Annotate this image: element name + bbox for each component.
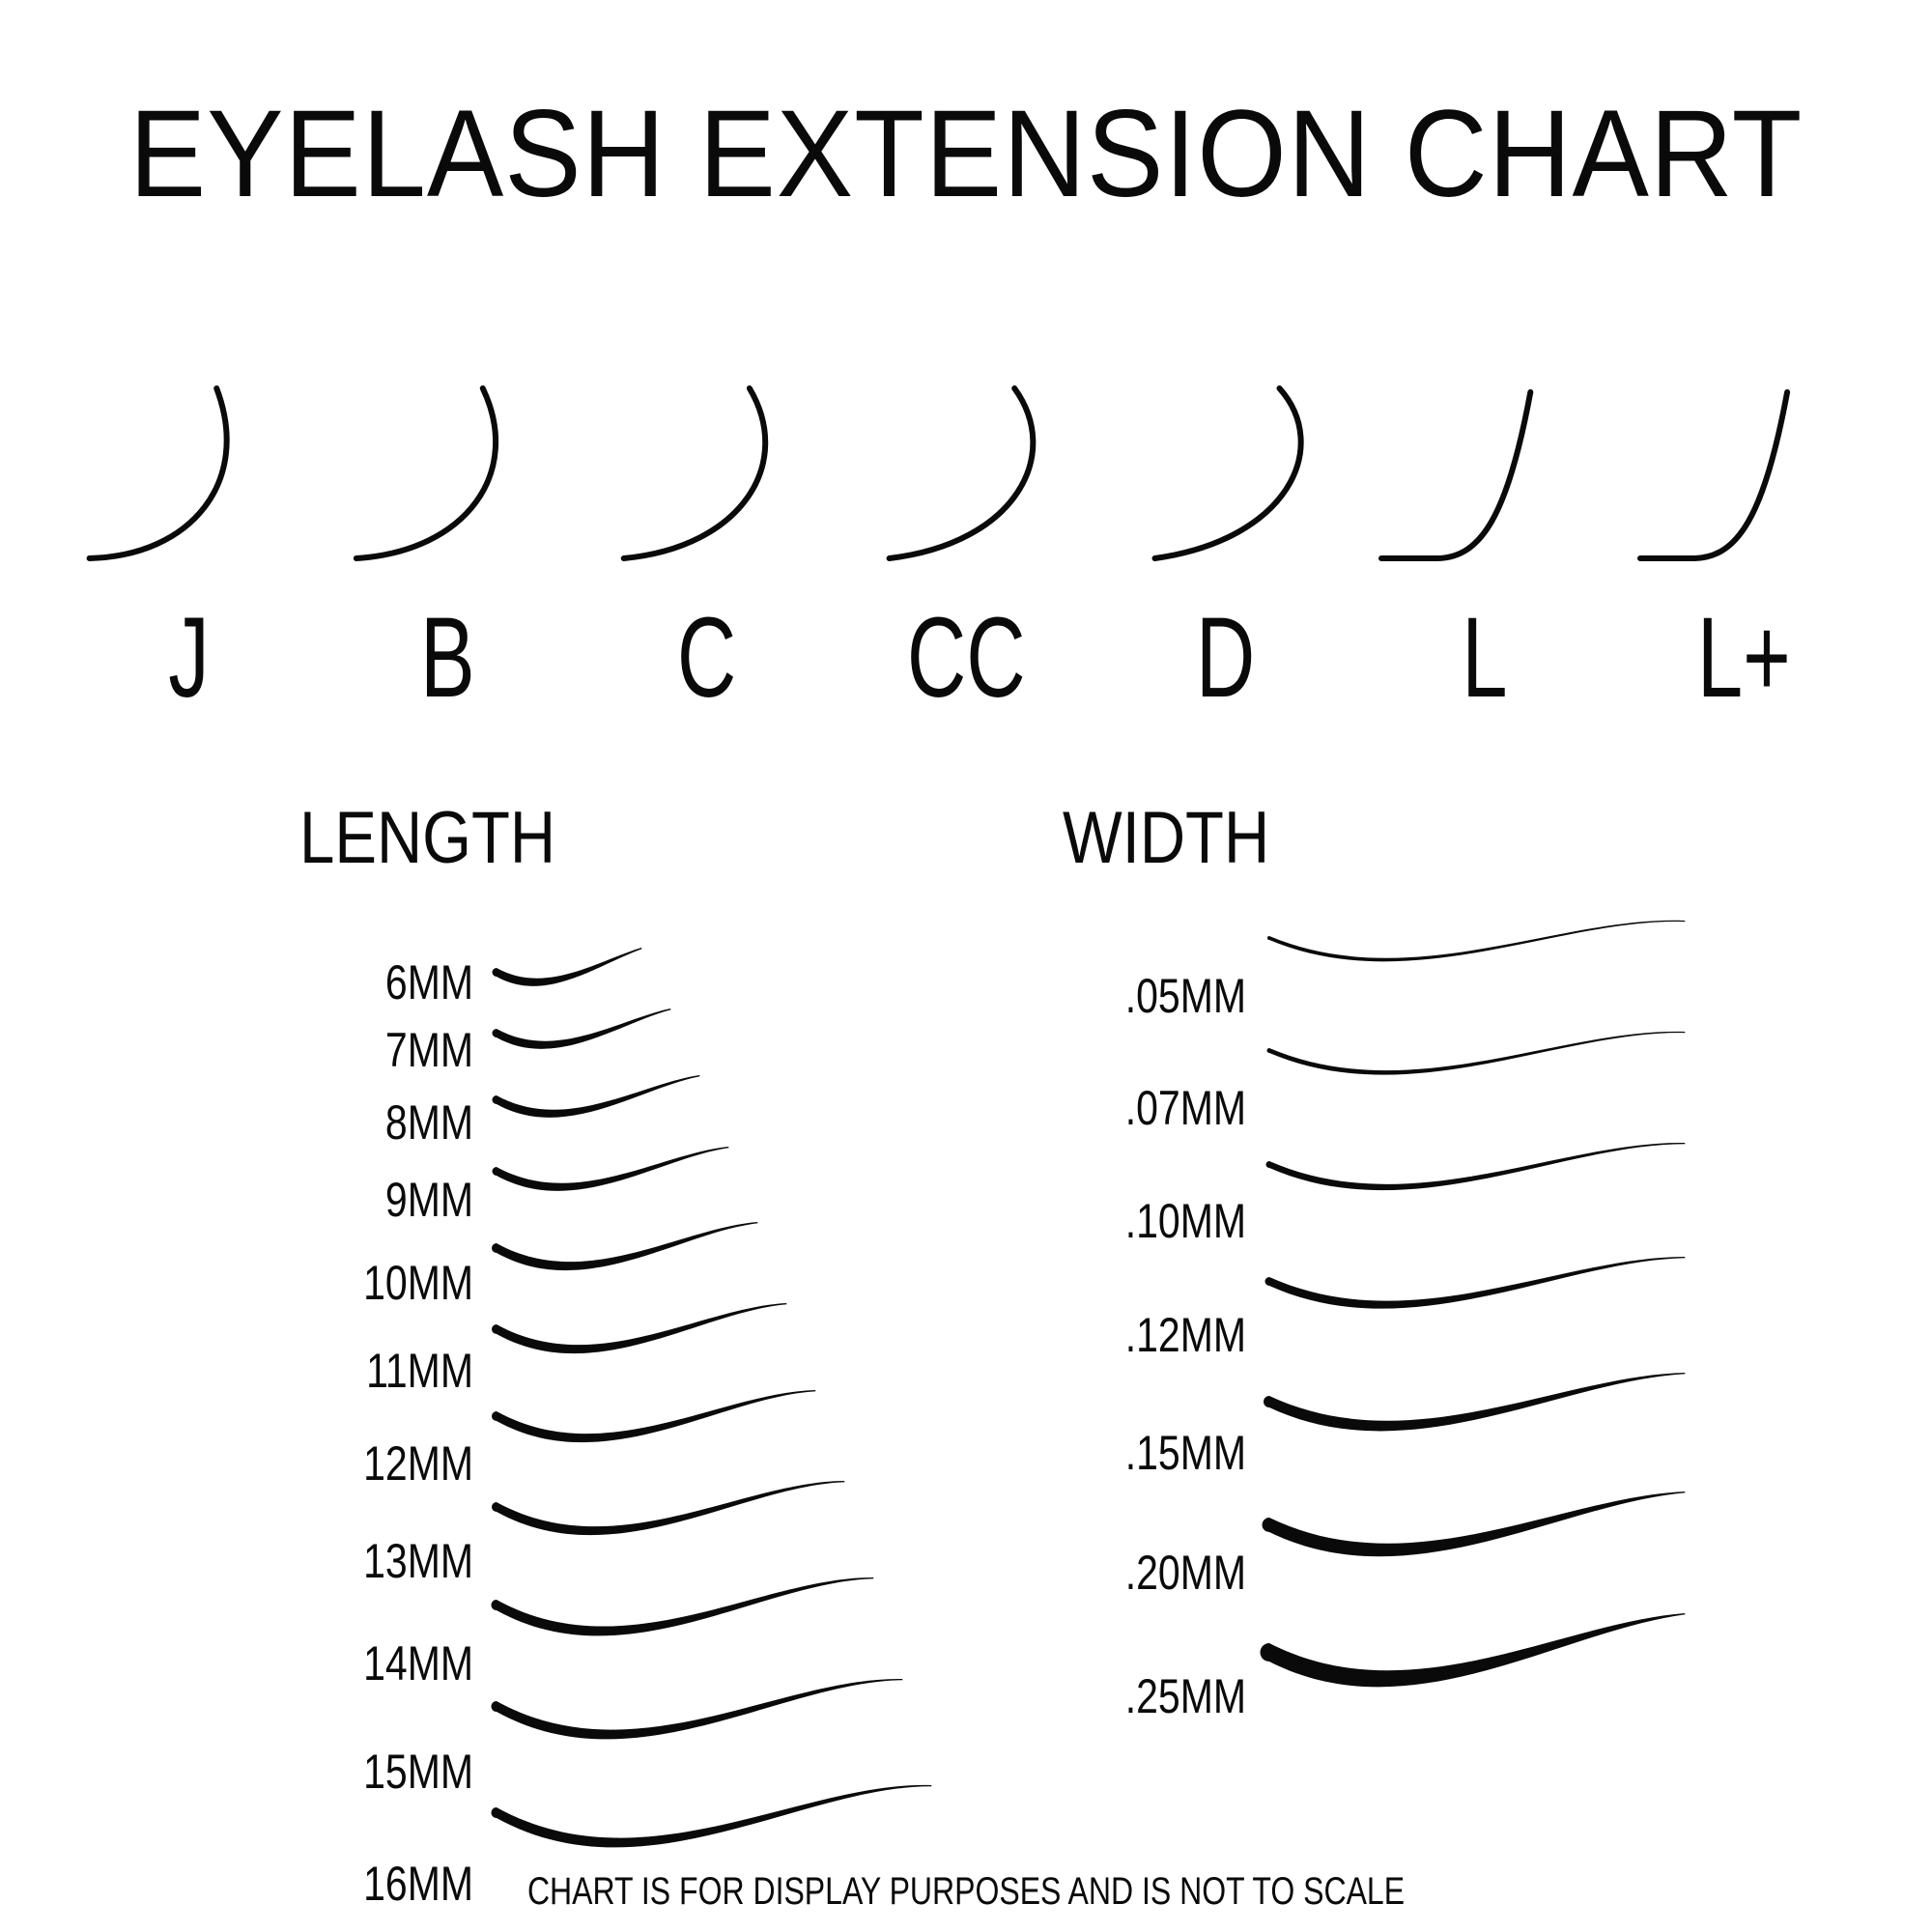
width-lash-icon — [1260, 1363, 1700, 1500]
curl-label-d: D — [1196, 601, 1255, 715]
curl-cc-icon — [845, 383, 1087, 576]
width-lash-icon — [1260, 1604, 1700, 1747]
width-lash-icon — [1260, 1482, 1700, 1622]
curl-cell-b: B — [327, 348, 568, 715]
width-label: .25MM — [1088, 1672, 1246, 1720]
curl-c-icon — [586, 383, 828, 576]
curl-types-row: JBCCCDLL+ — [68, 348, 1864, 715]
length-heading: LENGTH — [299, 802, 923, 875]
length-label: 11MM — [323, 1347, 473, 1395]
width-label: .12MM — [1088, 1311, 1246, 1359]
curl-j-icon — [68, 383, 309, 576]
curl-label-l-plus: L+ — [1697, 601, 1791, 715]
width-label: .05MM — [1088, 972, 1246, 1020]
curl-label-c: C — [677, 601, 736, 715]
curl-label-cc: CC — [907, 601, 1026, 715]
curl-cell-d: D — [1104, 348, 1346, 715]
width-label: .15MM — [1088, 1429, 1246, 1477]
width-lash-icon — [1260, 1022, 1700, 1152]
curl-b-icon — [327, 383, 568, 576]
curl-l-plus-icon — [1623, 383, 1864, 576]
length-label: 10MM — [323, 1259, 473, 1307]
width-rows: .05MM.07MM.10MM.12MM.15MM.20MM.25MM — [1053, 952, 1816, 1747]
width-label: .10MM — [1088, 1197, 1246, 1245]
curl-cell-j: J — [68, 348, 309, 715]
curl-d-icon — [1104, 383, 1346, 576]
curl-label-l: L — [1462, 601, 1507, 715]
length-label: 8MM — [323, 1098, 473, 1147]
width-lash-icon — [1260, 1133, 1700, 1265]
length-label: 7MM — [323, 1026, 473, 1074]
curl-cell-l-plus: L+ — [1623, 348, 1864, 715]
curl-label-b: B — [420, 601, 475, 715]
length-column: LENGTH 6MM7MM8MM9MM10MM11MM12MM13MM14MM1… — [290, 802, 1024, 1932]
disclaimer-text: CHART IS FOR DISPLAY PURPOSES AND IS NOT… — [193, 1872, 1739, 1911]
curl-cell-l: L — [1364, 348, 1605, 715]
width-label: .07MM — [1088, 1084, 1246, 1132]
length-label: 9MM — [323, 1176, 473, 1224]
width-lash-icon — [1260, 1247, 1700, 1381]
length-label: 12MM — [323, 1439, 473, 1488]
curl-label-j: J — [168, 601, 209, 715]
length-rows: 6MM7MM8MM9MM10MM11MM12MM13MM14MM15MM16MM — [290, 952, 1024, 1932]
width-heading: WIDTH — [1063, 802, 1711, 875]
curl-l-icon — [1364, 383, 1605, 576]
length-label: 14MM — [323, 1639, 473, 1688]
width-label: .20MM — [1088, 1548, 1246, 1597]
length-label: 13MM — [323, 1537, 473, 1585]
curl-cell-cc: CC — [845, 348, 1087, 715]
size-reference-area: LENGTH 6MM7MM8MM9MM10MM11MM12MM13MM14MM1… — [0, 802, 1932, 1826]
length-label: 6MM — [323, 958, 473, 1007]
curl-cell-c: C — [586, 348, 828, 715]
eyelash-extension-chart-page: EYELASH EXTENSION CHART JBCCCDLL+ LENGTH… — [0, 0, 1932, 1932]
length-label: 15MM — [323, 1747, 473, 1796]
width-column: WIDTH .05MM.07MM.10MM.12MM.15MM.20MM.25M… — [1053, 802, 1816, 1747]
page-title: EYELASH EXTENSION CHART — [68, 93, 1864, 216]
width-row: .25MM — [1053, 1645, 1816, 1747]
